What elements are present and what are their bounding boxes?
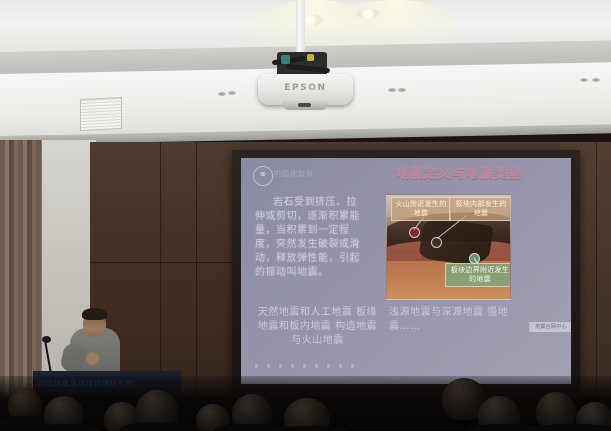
ceiling-screw-4 bbox=[398, 88, 406, 92]
ceiling-screw-6 bbox=[592, 78, 600, 82]
projection-screen-frame: ⚭ 中国地震局 地震定义与地震类型 岩石受到挤压、拉伸或剪切，逐渐积累能量，当积… bbox=[232, 150, 580, 392]
audience-shoulders bbox=[120, 422, 200, 431]
diagram-label-plate-boundary: 板块边界附近发生的地震 bbox=[445, 263, 511, 287]
projector-lens-icon bbox=[298, 103, 311, 107]
lecture-hall-photo: EPSON ⚭ 中国地震局 地震定义与地震类型 岩石受到挤压、拉伸或剪切，逐渐积… bbox=[0, 0, 611, 431]
earthquake-type-diagram: 火山附近发生的地震 板块内部发生的地震 板块边界附近发生的地震 bbox=[386, 194, 511, 300]
downlight-glow-right bbox=[330, 0, 460, 48]
projection-screen-surface[interactable]: ⚭ 中国地震局 地震定义与地震类型 岩石受到挤压、拉伸或剪切，逐渐积累能量，当积… bbox=[241, 158, 571, 384]
slide-footer-decoration bbox=[255, 364, 355, 368]
wood-seam-2 bbox=[196, 142, 197, 404]
diagram-label-volcanic: 火山附近发生的地震 bbox=[391, 197, 451, 221]
slide-classification-list-right: 浅源地震与深源地震 慢地震…… bbox=[389, 306, 514, 334]
projector-connector-yellow bbox=[307, 54, 314, 61]
slide-side-note-badge: 地震台网中心 bbox=[529, 322, 571, 332]
audience-shoulders bbox=[528, 424, 611, 431]
downlight-icon-right bbox=[356, 8, 380, 19]
ceiling-screw-3 bbox=[388, 88, 396, 92]
diagram-label-intraplate: 板块内部发生的地震 bbox=[449, 197, 511, 221]
slide-title: 地震定义与地震类型 bbox=[359, 163, 559, 182]
audience-shoulders bbox=[34, 424, 100, 431]
ceiling-screw-2 bbox=[228, 91, 236, 95]
wood-seam-3 bbox=[90, 262, 232, 263]
projector-mount-pole bbox=[296, 0, 305, 58]
microphone-icon bbox=[42, 336, 51, 343]
organization-logo-icon: ⚭ bbox=[253, 166, 273, 186]
audience-area bbox=[0, 376, 611, 431]
ceiling-screw-1 bbox=[218, 92, 226, 96]
presenter-hand bbox=[86, 352, 99, 365]
projector-brand-label: EPSON bbox=[258, 83, 353, 93]
slide-body-paragraph: 岩石受到挤压、拉伸或剪切，逐渐积累能量，当积累到一定程度，突然发生破裂或滑动，释… bbox=[255, 196, 365, 280]
organization-logo-text: 中国地震局 bbox=[274, 169, 314, 179]
presenter-hair bbox=[82, 308, 107, 320]
ceiling-screw-5 bbox=[580, 78, 588, 82]
slide-classification-list-left: 天然地震和人工地震 板缘地震和板内地震 构造地震与火山地震 bbox=[255, 306, 380, 348]
wood-seam-4 bbox=[596, 142, 597, 404]
wood-seam-1 bbox=[160, 142, 161, 404]
window-curtain bbox=[0, 140, 42, 402]
air-vent-grille-icon bbox=[80, 97, 122, 131]
audience-shoulders bbox=[270, 426, 350, 431]
slide-canvas: ⚭ 中国地震局 地震定义与地震类型 岩石受到挤压、拉伸或剪切，逐渐积累能量，当积… bbox=[241, 158, 571, 384]
projector-connector-green bbox=[281, 55, 290, 64]
